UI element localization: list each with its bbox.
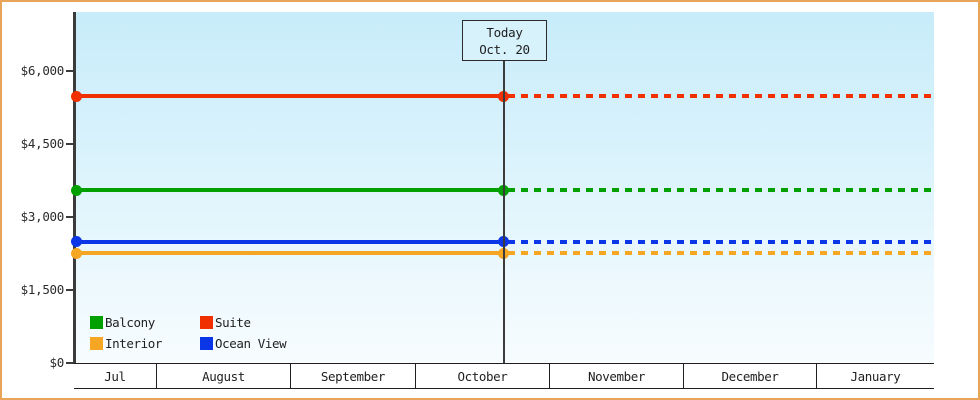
legend-swatch <box>90 337 103 350</box>
legend-item[interactable]: Suite <box>200 312 286 333</box>
y-axis-tick-label: $4,500 <box>2 136 64 151</box>
legend-item[interactable]: Ocean View <box>200 333 286 354</box>
series-start-marker <box>71 91 82 102</box>
y-axis-tick-label: $1,500 <box>2 282 64 297</box>
y-axis-tick <box>66 70 74 72</box>
legend-swatch <box>90 316 103 329</box>
month-cell[interactable]: September <box>291 364 416 388</box>
legend-item[interactable]: Interior <box>90 333 190 354</box>
series-line-forecast <box>508 240 934 244</box>
series-line-forecast <box>508 94 934 98</box>
series-line-actual <box>76 94 503 98</box>
series-line-actual <box>76 251 503 255</box>
x-axis-month-band: JulAugustSeptemberOctoberNovemberDecembe… <box>74 363 934 389</box>
y-axis-tick-label: $3,000 <box>2 209 64 224</box>
legend: BalconySuiteInteriorOcean View <box>90 312 286 354</box>
chart-widget: $0$1,500$3,000$4,500$6,000 Today Oct. 20… <box>0 0 980 400</box>
month-cell[interactable]: January <box>817 364 934 388</box>
legend-label: Interior <box>105 336 162 351</box>
series-line-actual <box>76 188 503 192</box>
series-line-actual <box>76 240 503 244</box>
y-axis-labels: $0$1,500$3,000$4,500$6,000 <box>2 2 64 400</box>
month-cell[interactable]: November <box>550 364 684 388</box>
month-cell[interactable]: Jul <box>74 364 157 388</box>
series-start-marker <box>71 236 82 247</box>
y-axis-tick-label: $6,000 <box>2 63 64 78</box>
y-axis-tick <box>66 289 74 291</box>
today-vertical-line <box>503 20 505 363</box>
today-callout-line2: Oct. 20 <box>463 41 546 58</box>
legend-label: Suite <box>215 315 251 330</box>
month-cell[interactable]: December <box>684 364 817 388</box>
y-axis-tick <box>66 362 74 364</box>
legend-label: Balcony <box>105 315 155 330</box>
series-start-marker <box>71 248 82 259</box>
month-cell[interactable]: August <box>157 364 291 388</box>
legend-swatch <box>200 316 213 329</box>
series-line-forecast <box>508 188 934 192</box>
y-axis-tick <box>66 143 74 145</box>
legend-item[interactable]: Balcony <box>90 312 190 333</box>
y-axis-tick <box>66 216 74 218</box>
month-cell[interactable]: October <box>416 364 550 388</box>
y-axis-tick-label: $0 <box>2 355 64 370</box>
today-callout-box: Today Oct. 20 <box>462 20 547 61</box>
legend-label: Ocean View <box>215 336 286 351</box>
legend-swatch <box>200 337 213 350</box>
today-callout-line1: Today <box>463 24 546 41</box>
series-start-marker <box>71 185 82 196</box>
series-line-forecast <box>508 251 934 255</box>
